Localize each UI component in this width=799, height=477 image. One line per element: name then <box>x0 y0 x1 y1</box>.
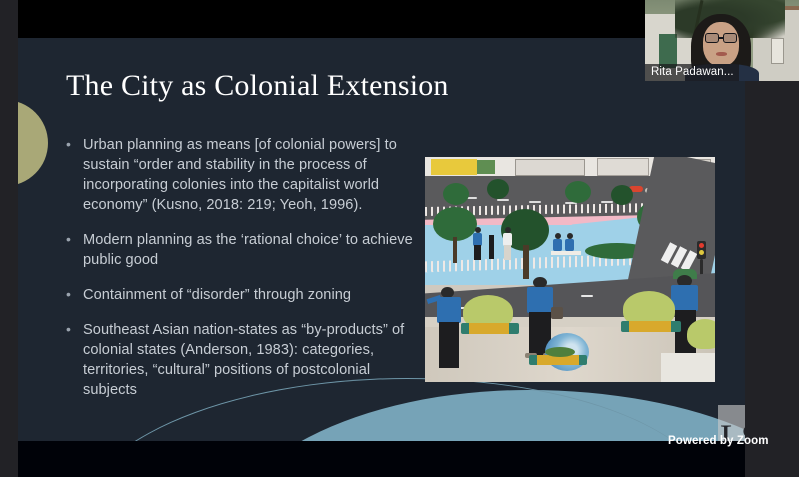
decorative-olive-semicircle <box>18 100 48 186</box>
left-margin <box>0 0 18 477</box>
window <box>771 38 784 64</box>
participant-lips <box>716 52 727 56</box>
glasses-bridge <box>719 37 724 39</box>
glasses-right-lens <box>723 33 737 43</box>
bullet-item: Urban planning as means [of colonial pow… <box>64 136 414 216</box>
slide-title: The City as Colonial Extension <box>66 69 626 103</box>
slide-mural-photograph <box>425 157 715 382</box>
green-door <box>659 34 677 68</box>
bullet-item: Containment of “disorder” through zoning <box>64 286 414 306</box>
participant-name-label: Rita Padawan... <box>645 64 739 81</box>
powered-by-zoom-label: Powered by Zoom <box>668 435 769 447</box>
zoom-screen-share-view: The City as Colonial Extension Urban pla… <box>0 0 799 477</box>
letterbox-bottom-bar <box>18 441 745 477</box>
presentation-slide: The City as Colonial Extension Urban pla… <box>18 38 745 441</box>
glasses-left-lens <box>705 33 719 43</box>
participant-video-tile[interactable]: Rita Padawan... <box>645 0 799 81</box>
bullet-item: Modern planning as the ‘rational choice’… <box>64 231 414 271</box>
participant-face <box>703 22 739 66</box>
slide-bullet-list: Urban planning as means [of colonial pow… <box>64 136 414 416</box>
bullet-item: Southeast Asian nation-states as “by-pro… <box>64 321 414 401</box>
right-margin <box>745 38 799 477</box>
